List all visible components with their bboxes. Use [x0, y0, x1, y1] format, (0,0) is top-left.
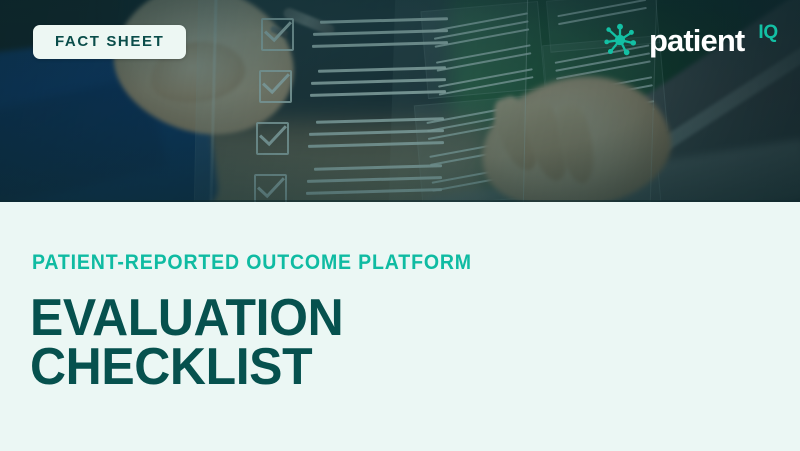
fact-sheet-cover: FACT SHEET — [0, 0, 800, 451]
eyebrow-text: PATIENT-REPORTED OUTCOME PLATFORM — [32, 252, 472, 273]
logo-wordmark: patient — [649, 25, 744, 56]
page-title-line-1: EVALUATION — [30, 294, 343, 343]
node-cluster-icon — [601, 21, 639, 59]
page-title-line-2: CHECKLIST — [30, 343, 343, 392]
patientiq-logo: patient IQ — [601, 21, 778, 59]
fact-sheet-badge-label: FACT SHEET — [55, 34, 164, 49]
page-title: EVALUATION CHECKLIST — [30, 294, 343, 392]
title-section: PATIENT-REPORTED OUTCOME PLATFORM EVALUA… — [0, 202, 800, 451]
fact-sheet-badge: FACT SHEET — [33, 25, 186, 59]
hero-image: FACT SHEET — [0, 0, 800, 202]
logo-iq-suffix: IQ — [758, 23, 778, 42]
